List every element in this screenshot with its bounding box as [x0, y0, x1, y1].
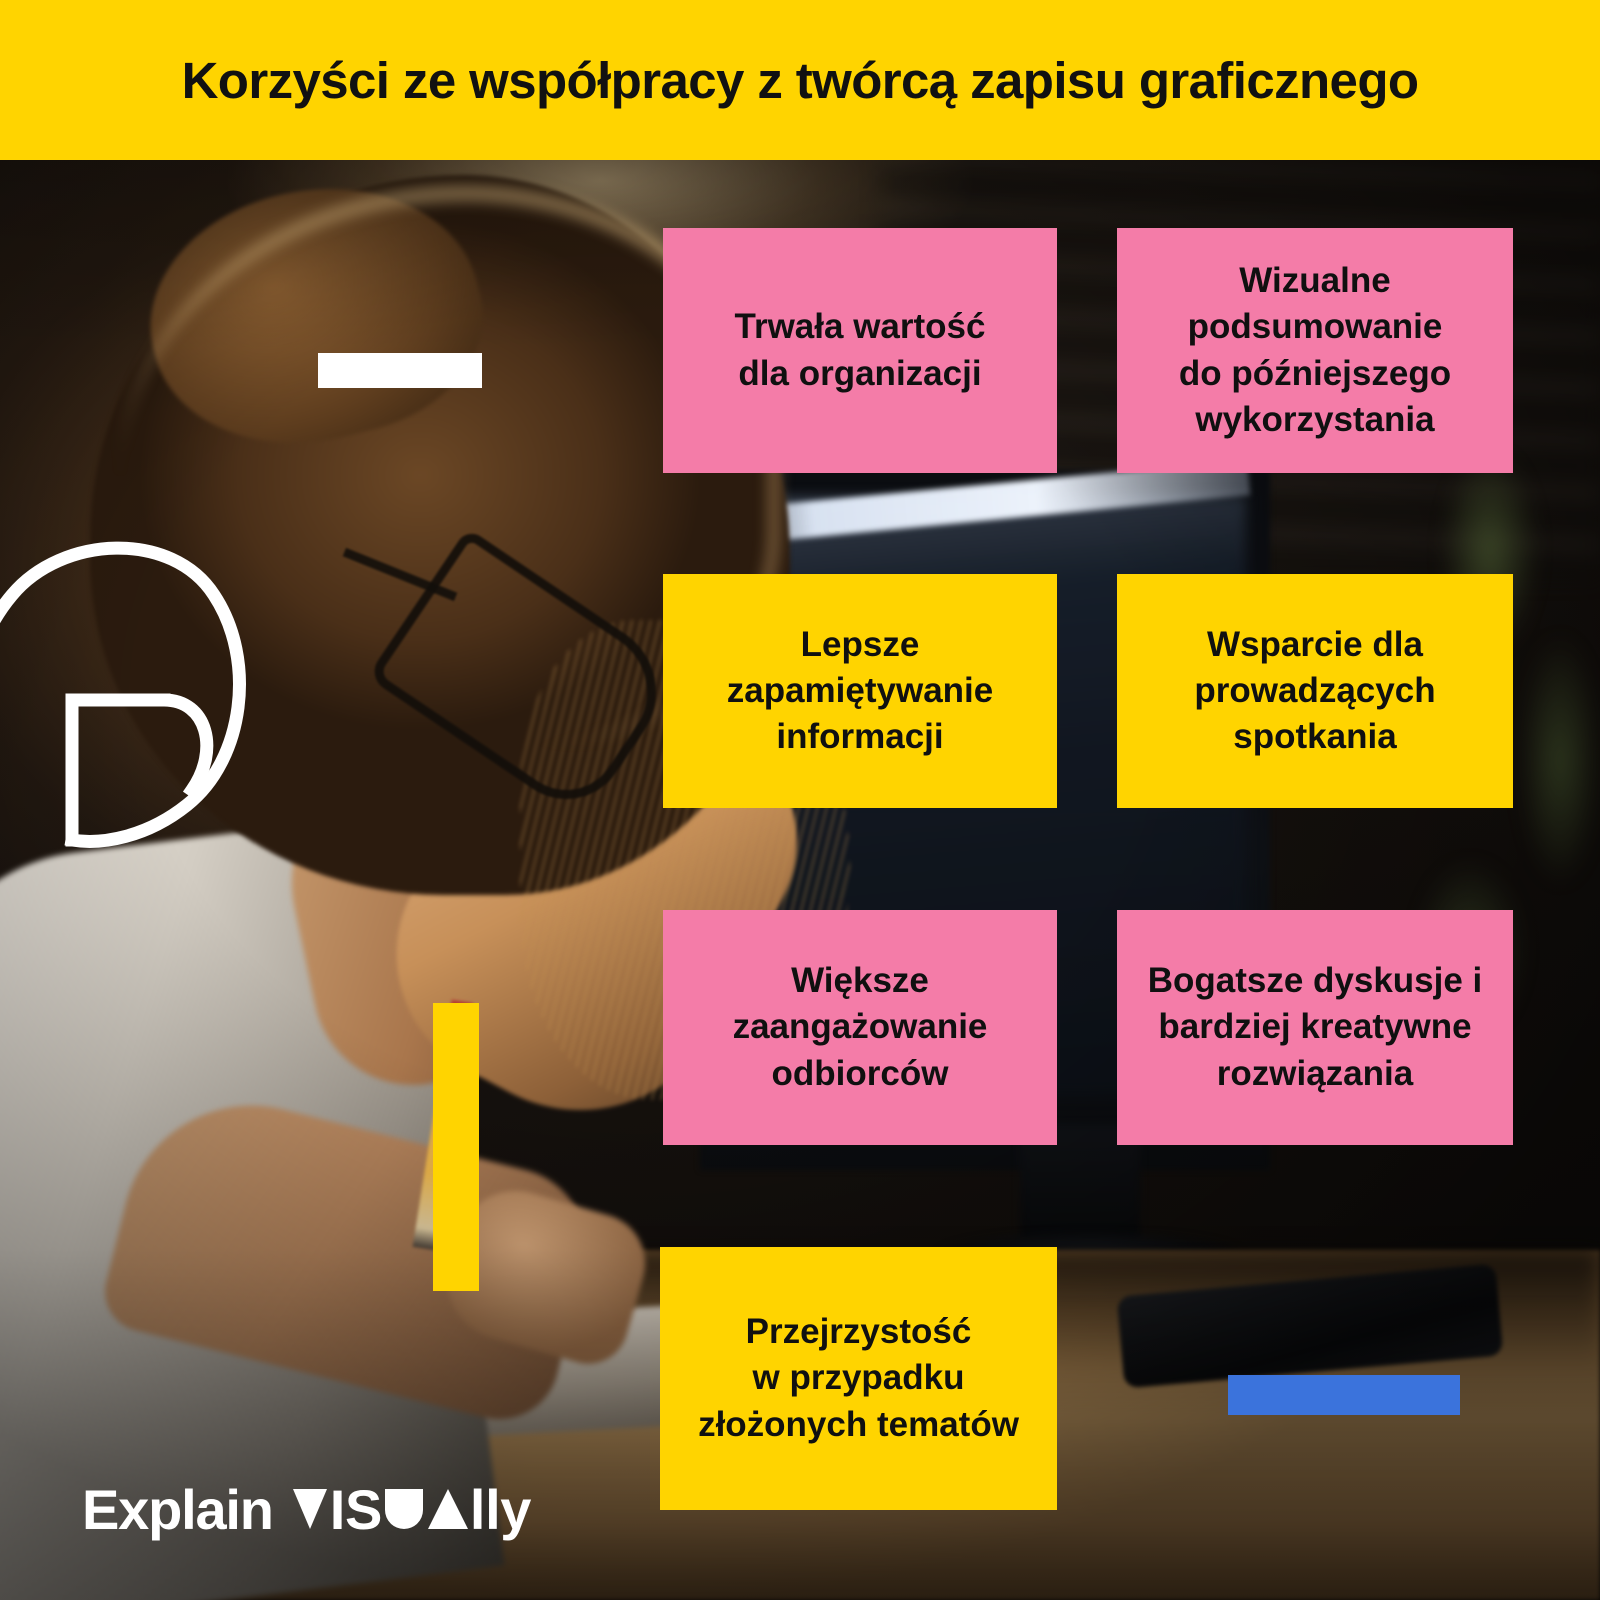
benefit-card-3-text: Lepszezapamiętywanieinformacji [727, 622, 994, 761]
yellow-bar-accent [433, 1003, 479, 1291]
swirl-outline-mark [0, 500, 272, 860]
benefit-card-3: Lepszezapamiętywanieinformacji [663, 574, 1057, 808]
benefit-card-5-text: Większezaangażowanieodbiorców [733, 958, 988, 1097]
benefit-card-6-text: Bogatsze dyskusje ibardziej kreatywneroz… [1148, 958, 1483, 1097]
benefit-card-6: Bogatsze dyskusje ibardziej kreatywneroz… [1117, 910, 1513, 1145]
benefit-card-4: Wsparcie dlaprowadzącychspotkania [1117, 574, 1513, 808]
page-title: Korzyści ze współpracy z twórcą zapisu g… [182, 51, 1419, 110]
logo-word-explain: Explain [82, 1482, 273, 1538]
benefit-card-1: Trwała wartośćdla organizacji [663, 228, 1057, 473]
infographic-poster: Korzyści ze współpracy z twórcą zapisu g… [0, 0, 1600, 1600]
benefit-card-7-text: Przejrzystośćw przypadkuzłożonych temató… [698, 1309, 1019, 1448]
benefit-card-2-text: Wizualnepodsumowaniedo późniejszegowykor… [1179, 258, 1451, 443]
logo-letters-is: IS [330, 1482, 382, 1538]
logo-letters-lly: lly [470, 1482, 531, 1538]
benefit-card-5: Większezaangażowanieodbiorców [663, 910, 1057, 1145]
blue-bar-accent [1228, 1375, 1460, 1415]
benefit-card-7: Przejrzystośćw przypadkuzłożonych temató… [660, 1247, 1057, 1510]
logo-triangle-v-icon [293, 1489, 327, 1529]
logo-semicircle-u-icon [385, 1489, 423, 1529]
white-dash-accent [318, 353, 482, 388]
logo-triangle-a-icon [428, 1489, 468, 1529]
benefit-card-2: Wizualnepodsumowaniedo późniejszegowykor… [1117, 228, 1513, 473]
benefit-card-4-text: Wsparcie dlaprowadzącychspotkania [1194, 622, 1435, 761]
logo-word-visually: IS lly [293, 1482, 531, 1538]
brand-logo: Explain IS lly [82, 1482, 531, 1538]
benefit-card-1-text: Trwała wartośćdla organizacji [735, 304, 986, 396]
header-bar: Korzyści ze współpracy z twórcą zapisu g… [0, 0, 1600, 160]
